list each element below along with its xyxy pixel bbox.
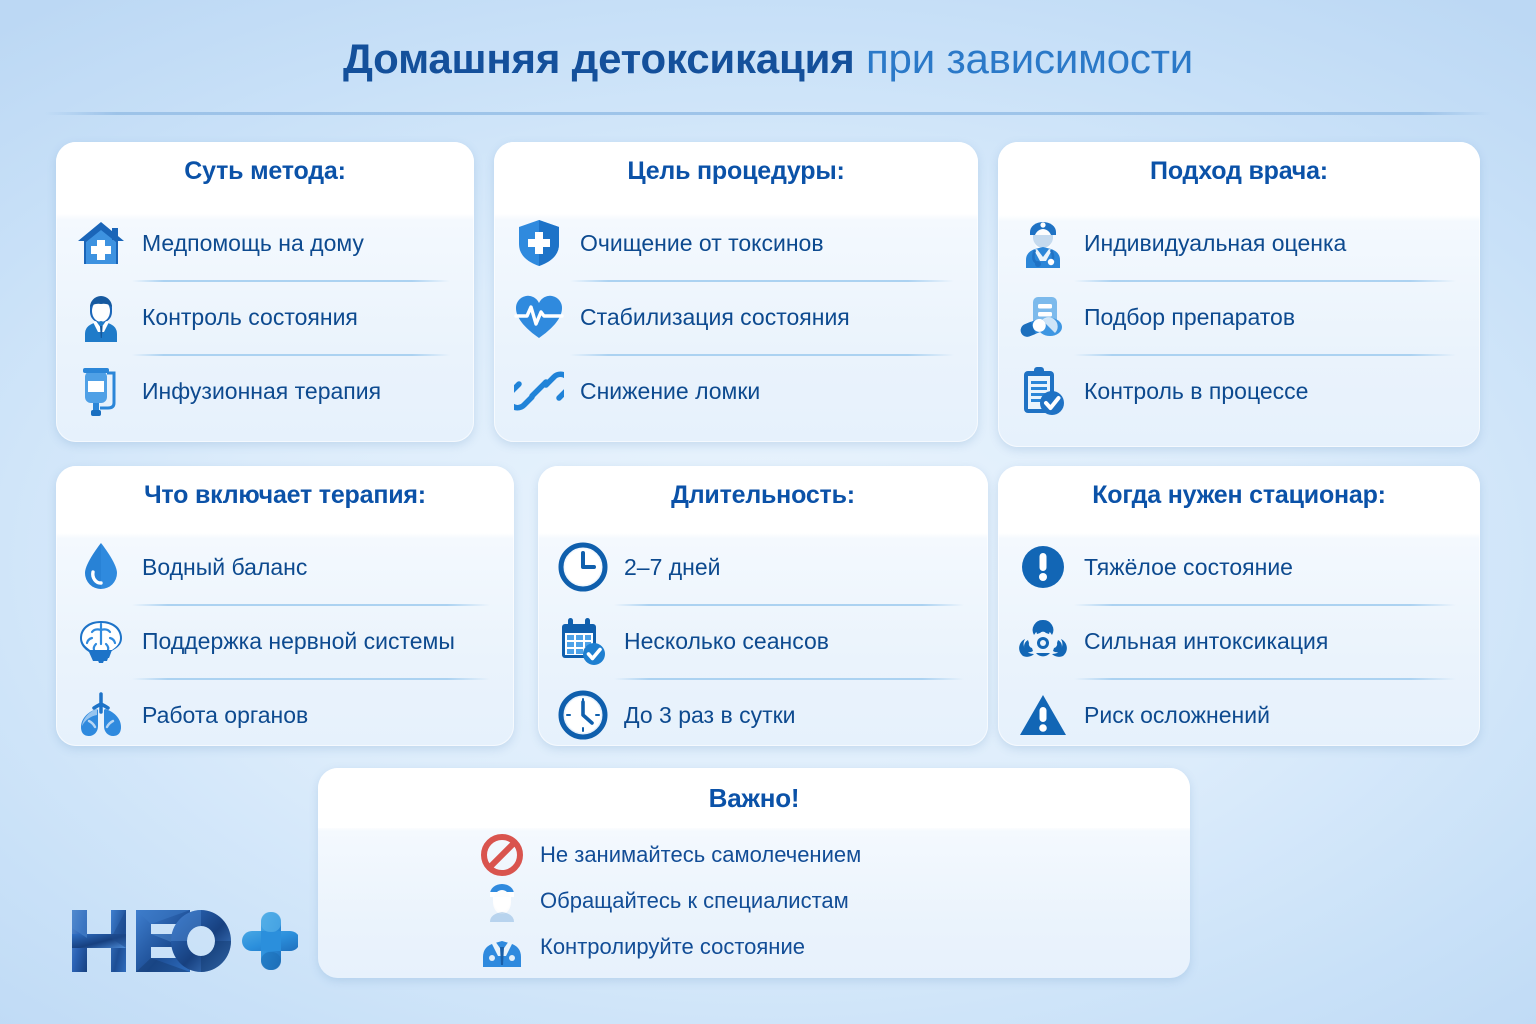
list-item-label: Индивидуальная оценка [1084, 230, 1346, 256]
clipboard-check-icon [1016, 362, 1070, 420]
nurse-body-icon [474, 924, 530, 970]
list-item: 2–7 дней [556, 530, 966, 604]
list-item-label: Риск осложнений [1084, 702, 1270, 728]
list-item: Несколько сеансов [556, 604, 966, 678]
card-chto-vklyuchaet-terapiya: Что включает терапия: Водный баланс [56, 466, 514, 746]
card-body: Индивидуальная оценка [998, 200, 1480, 438]
list-item: Риск осложнений [1016, 678, 1458, 746]
card-header: Цель процедуры: [494, 142, 978, 200]
card-body: Водный баланс [56, 524, 514, 746]
list-item-label: Медпомощь на дому [142, 230, 364, 256]
card-dlitelnost: Длительность: 2–7 дней [538, 466, 988, 746]
list-item: Контроль в процессе [1016, 354, 1458, 428]
card-sut-metoda: Суть метода: Медпомощь на дому [56, 142, 474, 442]
list-item-label: Водный баланс [142, 554, 307, 580]
list-item-label: До 3 раз в сутки [624, 702, 796, 728]
card-header: Что включает терапия: [56, 466, 514, 524]
shield-plus-icon [512, 214, 566, 272]
list-item: Обращайтесь к специалистам [474, 878, 1034, 924]
prohibition-sign-icon [474, 832, 530, 878]
list-item: Контроль состояния [74, 280, 452, 354]
page-title: Домашняя детоксикация при зависимости [0, 36, 1536, 82]
page-title-strong: Домашняя детоксикация [343, 35, 855, 82]
list-item-label: Сильная интоксикация [1084, 628, 1328, 654]
warning-triangle-icon [1016, 686, 1070, 744]
list-item-label: Подбор препаратов [1084, 304, 1295, 330]
card-header: Когда нужен стационар: [998, 466, 1480, 524]
important-header: Важно! [318, 768, 1190, 828]
title-divider [44, 112, 1492, 115]
list-item-label: Контролируйте состояние [540, 934, 805, 960]
page-title-light: при зависимости [866, 35, 1193, 82]
doctor-stethoscope-icon [1016, 214, 1070, 272]
list-item: Не занимайтесь самолечением [474, 832, 1034, 878]
doctor-person-icon [74, 288, 128, 346]
list-item: Поддержка нервной системы [74, 604, 492, 678]
lungs-icon [74, 686, 128, 744]
list-item: Тяжёлое состояние [1016, 530, 1458, 604]
card-body: 2–7 дней [538, 524, 988, 746]
exclamation-circle-icon [1016, 538, 1070, 596]
list-item: До 3 раз в сутки [556, 678, 966, 746]
list-item-label: Не занимайтесь самолечением [540, 842, 861, 868]
list-item-label: Контроль в процессе [1084, 378, 1308, 404]
list-item: Снижение ломки [512, 354, 956, 428]
list-item-label: Тяжёлое состояние [1084, 554, 1293, 580]
list-item-label: Снижение ломки [580, 378, 760, 404]
list-item: Водный баланс [74, 530, 492, 604]
card-body: Медпомощь на дому Контроль состояния [56, 200, 474, 438]
list-item-label: Работа органов [142, 702, 308, 728]
brain-icon [74, 612, 128, 670]
infographic-root: Домашняя детоксикация при зависимости Су… [0, 0, 1536, 1024]
house-medical-icon [74, 214, 128, 272]
clock-icon [556, 686, 610, 744]
water-drop-icon [74, 538, 128, 596]
list-item: Сильная интоксикация [1016, 604, 1458, 678]
list-item-label: Поддержка нервной системы [142, 628, 455, 654]
list-item: Подбор препаратов [1016, 280, 1458, 354]
list-item-label: Очищение от токсинов [580, 230, 824, 256]
card-kogda-nuzhen-stacionar: Когда нужен стационар: Тяжёлое состояние [998, 466, 1480, 746]
iv-drip-icon [74, 362, 128, 420]
important-panel: Важно! Не занимайтесь самолечением [318, 768, 1190, 978]
list-item: Работа органов [74, 678, 492, 746]
pills-medicine-icon [1016, 288, 1070, 346]
list-item: Инфузионная терапия [74, 354, 452, 428]
card-podhod-vracha: Подход врача: [998, 142, 1480, 447]
calendar-check-icon [556, 612, 610, 670]
list-item: Стабилизация состояния [512, 280, 956, 354]
card-header: Длительность: [538, 466, 988, 524]
list-item-label: 2–7 дней [624, 554, 721, 580]
list-item-label: Контроль состояния [142, 304, 358, 330]
card-header: Подход врача: [998, 142, 1480, 200]
biohazard-icon [1016, 612, 1070, 670]
brand-logo [68, 898, 298, 984]
nurse-head-icon [474, 878, 530, 924]
card-body: Очищение от токсинов Стабилизация состоя… [494, 200, 978, 438]
chain-link-icon [512, 362, 566, 420]
heart-pulse-icon [512, 288, 566, 346]
list-item: Медпомощь на дому [74, 206, 452, 280]
list-item-label: Инфузионная терапия [142, 378, 381, 404]
list-item: Контролируйте состояние [474, 924, 1034, 970]
card-body: Тяжёлое состояние [998, 524, 1480, 746]
list-item-label: Обращайтесь к специалистам [540, 888, 849, 914]
list-item: Индивидуальная оценка [1016, 206, 1458, 280]
clock-icon [556, 538, 610, 596]
list-item-label: Несколько сеансов [624, 628, 829, 654]
card-cel-procedury: Цель процедуры: Очищение от токсинов [494, 142, 978, 442]
important-body: Не занимайтесь самолечением Обращайтесь … [318, 828, 1190, 970]
list-item-label: Стабилизация состояния [580, 304, 850, 330]
list-item: Очищение от токсинов [512, 206, 956, 280]
card-header: Суть метода: [56, 142, 474, 200]
